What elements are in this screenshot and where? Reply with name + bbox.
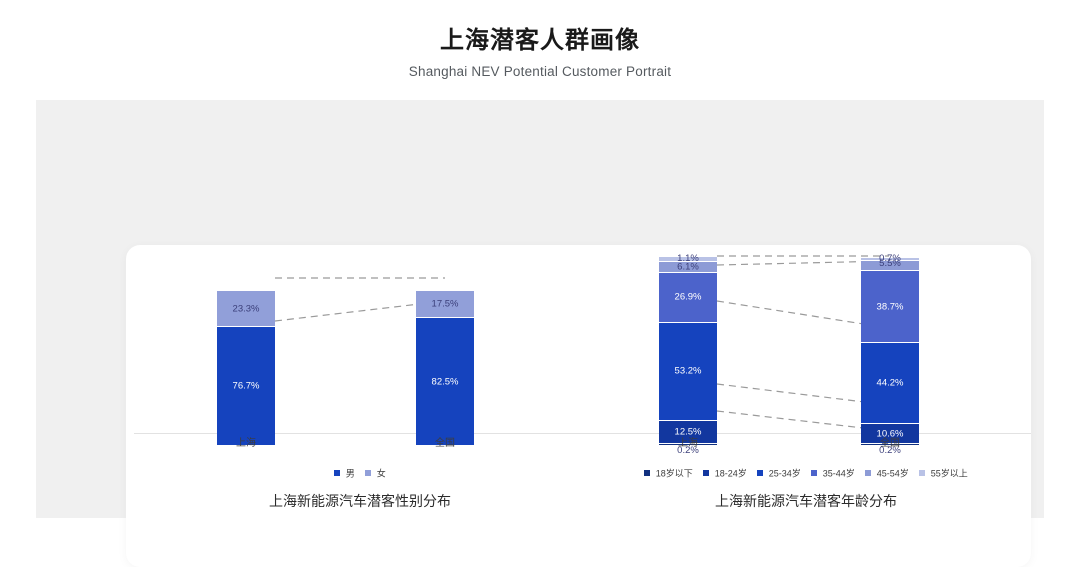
age-value-35-44-shanghai: 26.9%	[659, 292, 717, 303]
age-segment-35-44-shanghai[interactable]: 26.9%	[659, 273, 717, 323]
square-swatch-icon	[811, 470, 817, 476]
gender-segment-male-shanghai[interactable]: 76.7%	[217, 327, 275, 445]
age-chart: 1.1% 6.1% 26.9% 53.2% 12.5% 0.	[581, 245, 1031, 567]
legend-label-female: 女	[377, 469, 386, 479]
gender-legend: 男 女	[134, 463, 586, 481]
age-tick-shanghai: 上海	[648, 437, 728, 450]
page-title: 上海潜客人群画像	[0, 0, 1080, 56]
age-segment-45-54-shanghai[interactable]: 6.1%	[659, 262, 717, 273]
gender-connector-lines	[134, 245, 586, 445]
square-swatch-icon	[919, 470, 925, 476]
age-plot-area: 1.1% 6.1% 26.9% 53.2% 12.5% 0.	[581, 245, 1031, 445]
age-tick-national: 全国	[850, 437, 930, 450]
age-column-national[interactable]: 0.7% 5.5% 38.7% 44.2% 10.6% 0.	[861, 258, 919, 445]
legend-item-45-54[interactable]: 45-54岁	[865, 467, 909, 480]
legend-label-male: 男	[346, 469, 355, 479]
page-header: 上海潜客人群画像 Shanghai NEV Potential Customer…	[0, 0, 1080, 81]
charts-card: 23.3% 76.7% 上海 17.5% 82.5% 全国	[126, 245, 1031, 567]
legend-label-25-34: 25-34岁	[769, 469, 801, 479]
square-swatch-icon	[757, 470, 763, 476]
legend-item-male[interactable]: 男	[334, 467, 355, 480]
square-swatch-icon	[334, 470, 340, 476]
square-swatch-icon	[365, 470, 371, 476]
square-swatch-icon	[644, 470, 650, 476]
age-column-shanghai[interactable]: 1.1% 6.1% 26.9% 53.2% 12.5% 0.	[659, 257, 717, 445]
gender-segment-male-national[interactable]: 82.5%	[416, 318, 474, 445]
gender-column-national[interactable]: 17.5% 82.5%	[416, 291, 474, 445]
legend-label-18-24: 18-24岁	[715, 469, 747, 479]
legend-label-35-44: 35-44岁	[823, 469, 855, 479]
gender-chart: 23.3% 76.7% 上海 17.5% 82.5% 全国	[134, 245, 586, 567]
legend-label-45-54: 45-54岁	[877, 469, 909, 479]
age-legend: 18岁以下 18-24岁 25-34岁 35-44岁 45-54岁	[581, 463, 1031, 481]
gender-segment-female-shanghai[interactable]: 23.3%	[217, 291, 275, 327]
legend-item-under18[interactable]: 18岁以下	[644, 467, 693, 480]
square-swatch-icon	[703, 470, 709, 476]
gender-segment-female-national[interactable]: 17.5%	[416, 291, 474, 318]
age-chart-caption: 上海新能源汽车潜客年龄分布	[581, 491, 1031, 511]
age-value-45-54-shanghai: 6.1%	[659, 261, 717, 272]
gender-axis-line	[134, 433, 586, 434]
gender-value-male-shanghai: 76.7%	[217, 381, 275, 392]
age-value-25-34-national: 44.2%	[861, 378, 919, 389]
age-segment-45-54-national[interactable]: 5.5%	[861, 261, 919, 271]
age-segment-35-44-national[interactable]: 38.7%	[861, 271, 919, 342]
legend-item-25-34[interactable]: 25-34岁	[757, 467, 801, 480]
age-value-45-54-national: 5.5%	[861, 258, 919, 269]
age-value-35-44-national: 38.7%	[861, 301, 919, 312]
legend-label-under18: 18岁以下	[656, 469, 693, 479]
age-segment-25-34-shanghai[interactable]: 53.2%	[659, 323, 717, 421]
legend-item-35-44[interactable]: 35-44岁	[811, 467, 855, 480]
legend-item-female[interactable]: 女	[365, 467, 386, 480]
age-segment-25-34-national[interactable]: 44.2%	[861, 343, 919, 425]
legend-item-55plus[interactable]: 55岁以上	[919, 467, 968, 480]
gender-plot-area: 23.3% 76.7% 上海 17.5% 82.5% 全国	[134, 245, 586, 445]
square-swatch-icon	[865, 470, 871, 476]
age-value-25-34-shanghai: 53.2%	[659, 366, 717, 377]
age-connector-lines	[581, 245, 1031, 445]
gender-tick-shanghai: 上海	[206, 437, 286, 450]
gender-chart-caption: 上海新能源汽车潜客性别分布	[134, 491, 586, 511]
legend-item-18-24[interactable]: 18-24岁	[703, 467, 747, 480]
gender-value-female-national: 17.5%	[416, 299, 474, 310]
gender-tick-national: 全国	[405, 437, 485, 450]
gender-value-male-national: 82.5%	[416, 376, 474, 387]
content-panel: 23.3% 76.7% 上海 17.5% 82.5% 全国	[36, 100, 1044, 518]
age-value-18-24-shanghai: 12.5%	[659, 426, 717, 437]
gender-column-shanghai[interactable]: 23.3% 76.7%	[217, 291, 275, 445]
age-axis-line	[581, 433, 1031, 434]
gender-value-female-shanghai: 23.3%	[217, 303, 275, 314]
page-subtitle: Shanghai NEV Potential Customer Portrait	[0, 56, 1080, 81]
legend-label-55plus: 55岁以上	[931, 469, 968, 479]
